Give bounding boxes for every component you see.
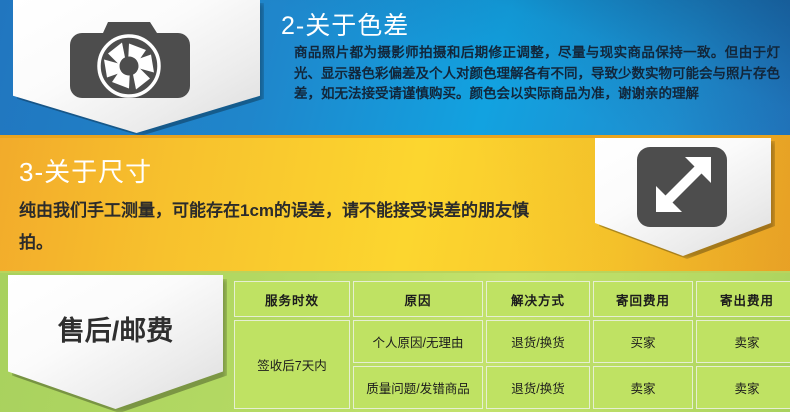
section-color-body: 商品照片都为摄影师拍摄和后期修正调整，尽量与现实商品保持一致。但由于灯光、显示器… xyxy=(294,43,780,105)
section-size-body: 纯由我们手工测量，可能存在1cm的误差，请不能接受误差的朋友慎拍。 xyxy=(19,195,539,259)
camera-icon xyxy=(68,16,190,102)
table-cell-return-fee: 买家 xyxy=(593,320,693,363)
camera-pennant xyxy=(13,0,260,133)
section-color-title: 2-关于色差 xyxy=(281,6,409,42)
after-sale-pennant-label: 售后/邮费 xyxy=(8,309,223,348)
section-after-sale: 售后/邮费 服务时效 原因 解决方式 寄回费用 寄出费用 签收后7天内 个人原因… xyxy=(0,273,790,412)
table-cell-timeframe: 签收后7天内 xyxy=(234,320,350,409)
diagonal-resize-arrow-icon xyxy=(637,147,727,227)
table-cell-ship-fee: 卖家 xyxy=(696,366,790,409)
table-cell-reason: 个人原因/无理由 xyxy=(353,320,483,363)
table-cell-ship-fee: 卖家 xyxy=(696,320,790,363)
table-cell-solution: 退货/换货 xyxy=(486,366,590,409)
section-size: 3-关于尺寸 纯由我们手工测量，可能存在1cm的误差，请不能接受误差的朋友慎拍。 xyxy=(0,138,790,273)
table-cell-solution: 退货/换货 xyxy=(486,320,590,363)
after-sale-fee-table: 服务时效 原因 解决方式 寄回费用 寄出费用 签收后7天内 个人原因/无理由 退… xyxy=(231,278,790,412)
section-size-title: 3-关于尺寸 xyxy=(19,152,152,189)
table-header-reason: 原因 xyxy=(353,281,483,317)
table-header-service-period: 服务时效 xyxy=(234,281,350,317)
table-header-solution: 解决方式 xyxy=(486,281,590,317)
table-header-ship-fee: 寄出费用 xyxy=(696,281,790,317)
table-cell-return-fee: 卖家 xyxy=(593,366,693,409)
table-row: 签收后7天内 个人原因/无理由 退货/换货 买家 卖家 xyxy=(234,320,790,363)
promo-info-banner: 2-关于色差 商品照片都为摄影师拍摄和后期修正调整，尽量与现实商品保持一致。但由… xyxy=(0,0,790,412)
table-cell-reason: 质量问题/发错商品 xyxy=(353,366,483,409)
arrow-pennant xyxy=(595,138,771,256)
section-color-difference: 2-关于色差 商品照片都为摄影师拍摄和后期修正调整，尽量与现实商品保持一致。但由… xyxy=(0,0,790,138)
table-header-row: 服务时效 原因 解决方式 寄回费用 寄出费用 xyxy=(234,281,790,317)
table-header-return-fee: 寄回费用 xyxy=(593,281,693,317)
